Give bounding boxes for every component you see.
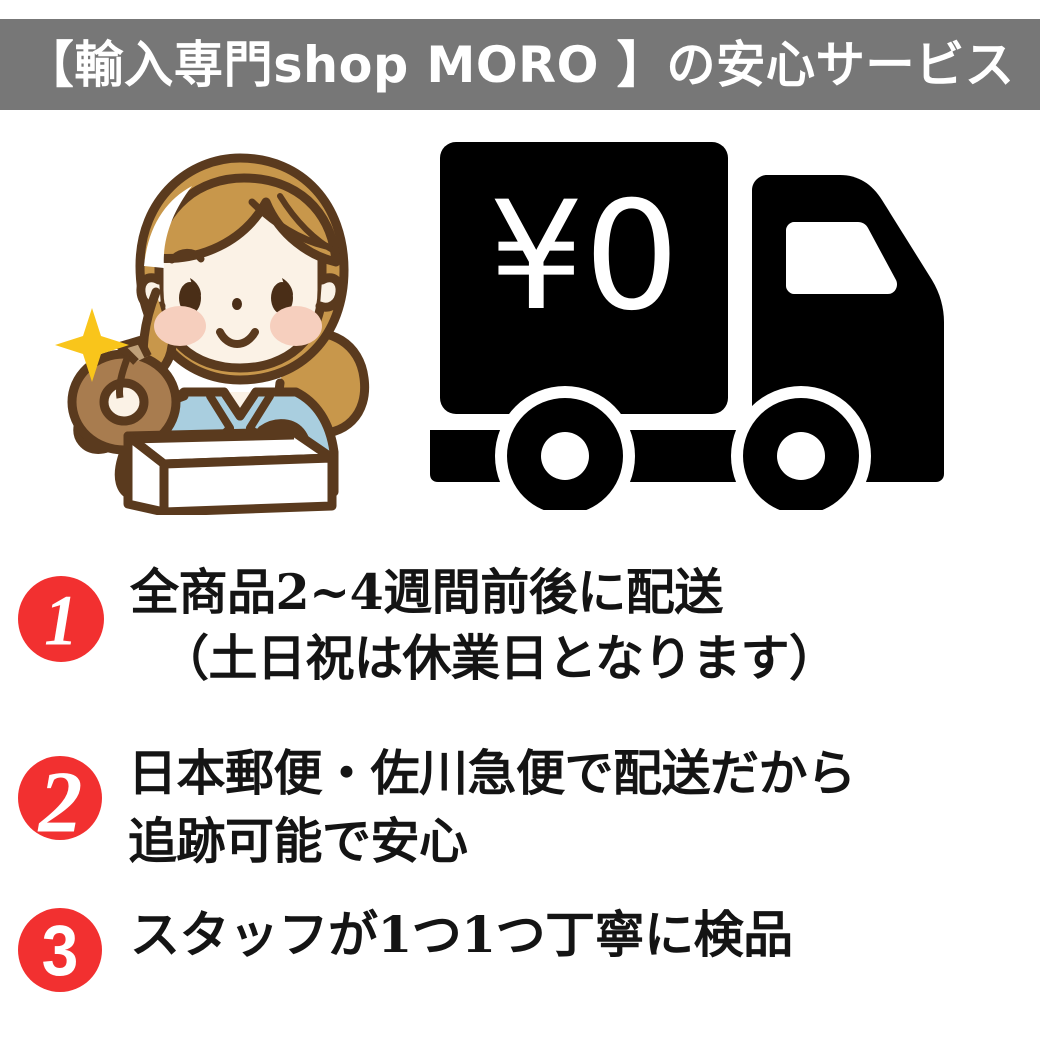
list-item-line: スタッフが1つ1つ丁寧に検品	[130, 902, 1040, 968]
woman-packing-box-illustration	[44, 140, 424, 515]
list-number-badge: 3	[18, 908, 102, 992]
list-item: 3 スタッフが1つ1つ丁寧に検品	[0, 902, 1040, 992]
list-item: 1 全商品2~4週間前後に配送 （土日祝は休業日となります）	[0, 560, 1040, 691]
list-number-badge: 2	[18, 756, 102, 840]
list-item-text: 日本郵便・佐川急便で配送だから 追跡可能で安心	[128, 740, 1040, 875]
list-number-text: 1	[44, 585, 78, 657]
list-item: 2 日本郵便・佐川急便で配送だから 追跡可能で安心	[0, 740, 1040, 875]
list-item-line: 日本郵便・佐川急便で配送だから	[128, 740, 1040, 808]
list-number-badge: 1	[18, 576, 104, 662]
list-number-text: 2	[38, 760, 82, 848]
list-item-line: 追跡可能で安心	[128, 808, 1040, 876]
header-banner: 【輸入専門shop MORO 】の安心サービス	[0, 19, 1040, 110]
cardboard-box	[128, 432, 332, 512]
truck-hub-front	[777, 432, 825, 480]
list-item-line: （土日祝は休業日となります）	[130, 626, 1040, 692]
service-list: 1 全商品2~4週間前後に配送 （土日祝は休業日となります） 2 日本郵便・佐川…	[0, 540, 1040, 1040]
delivery-truck-illustration: ¥0	[420, 130, 1000, 510]
truck-hub-rear	[541, 432, 589, 480]
illustration-row: ¥0	[0, 120, 1040, 530]
page-title: 【輸入専門shop MORO 】の安心サービス	[25, 40, 1015, 90]
truck-free-shipping-label: ¥0	[489, 170, 680, 344]
list-number-text: 3	[42, 914, 79, 985]
list-item-line: 全商品2~4週間前後に配送	[130, 560, 1040, 626]
list-item-text: スタッフが1つ1つ丁寧に検品	[130, 902, 1040, 968]
list-item-text: 全商品2~4週間前後に配送 （土日祝は休業日となります）	[130, 560, 1040, 691]
